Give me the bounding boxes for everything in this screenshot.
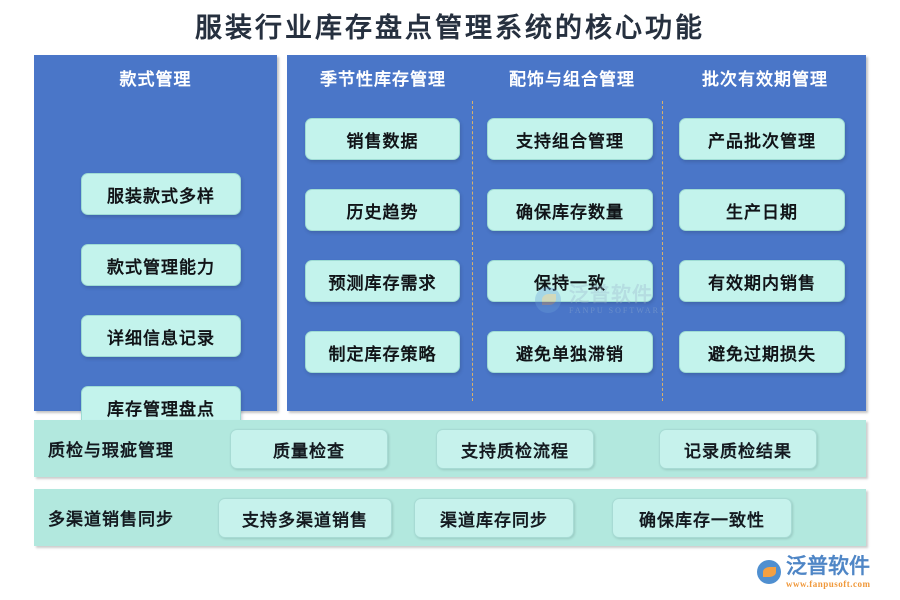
feature-pill[interactable]: 支持多渠道销售	[218, 498, 392, 538]
row-quality-inspection: 质检与瑕疵管理 质量检查 支持质检流程 记录质检结果	[34, 420, 866, 477]
feature-pill[interactable]: 支持质检流程	[436, 429, 594, 469]
column-header-0: 款式管理	[34, 65, 277, 90]
column-header-2: 配饰与组合管理	[477, 65, 667, 90]
feature-pill[interactable]: 支持组合管理	[487, 118, 653, 160]
infographic-canvas: 服装行业库存盘点管理系统的核心功能 款式管理 服装款式多样 款式管理能力 详细信…	[0, 0, 900, 600]
feature-pill[interactable]: 生产日期	[679, 189, 845, 231]
feature-pill[interactable]: 确保库存一致性	[612, 498, 792, 538]
feature-pill[interactable]: 质量检查	[230, 429, 388, 469]
row-label: 多渠道销售同步	[48, 489, 174, 546]
feature-pill[interactable]: 款式管理能力	[81, 244, 241, 286]
feature-pill[interactable]: 有效期内销售	[679, 260, 845, 302]
column-header-3: 批次有效期管理	[670, 65, 860, 90]
logo-brand-name: 泛普软件	[786, 556, 871, 577]
feature-pill[interactable]: 制定库存策略	[305, 331, 460, 373]
feature-pill[interactable]: 避免过期损失	[679, 331, 845, 373]
feature-pill[interactable]: 服装款式多样	[81, 173, 241, 215]
feature-pill[interactable]: 渠道库存同步	[414, 498, 574, 538]
page-title: 服装行业库存盘点管理系统的核心功能	[0, 6, 900, 45]
feature-pill[interactable]: 历史趋势	[305, 189, 460, 231]
feature-pill[interactable]: 产品批次管理	[679, 118, 845, 160]
panel-inventory-groups: 季节性库存管理 配饰与组合管理 批次有效期管理 销售数据 历史趋势 预测库存需求…	[287, 55, 866, 411]
column-divider	[472, 101, 473, 401]
row-multichannel-sync: 多渠道销售同步 支持多渠道销售 渠道库存同步 确保库存一致性	[34, 489, 866, 546]
brand-logo: 泛普软件 www.fanpusoft.com	[757, 552, 892, 592]
feature-pill[interactable]: 确保库存数量	[487, 189, 653, 231]
feature-pill[interactable]: 预测库存需求	[305, 260, 460, 302]
panel-style-management: 款式管理 服装款式多样 款式管理能力 详细信息记录 库存管理盘点	[34, 55, 277, 411]
feature-pill[interactable]: 避免单独滞销	[487, 331, 653, 373]
column-header-1: 季节性库存管理	[293, 65, 473, 90]
feature-pill[interactable]: 销售数据	[305, 118, 460, 160]
fanpu-logo-icon	[757, 559, 783, 585]
feature-pill[interactable]: 保持一致	[487, 260, 653, 302]
feature-pill[interactable]: 详细信息记录	[81, 315, 241, 357]
logo-website: www.fanpusoft.com	[786, 580, 871, 589]
row-label: 质检与瑕疵管理	[48, 420, 174, 477]
column-divider	[662, 101, 663, 401]
feature-pill[interactable]: 记录质检结果	[659, 429, 817, 469]
